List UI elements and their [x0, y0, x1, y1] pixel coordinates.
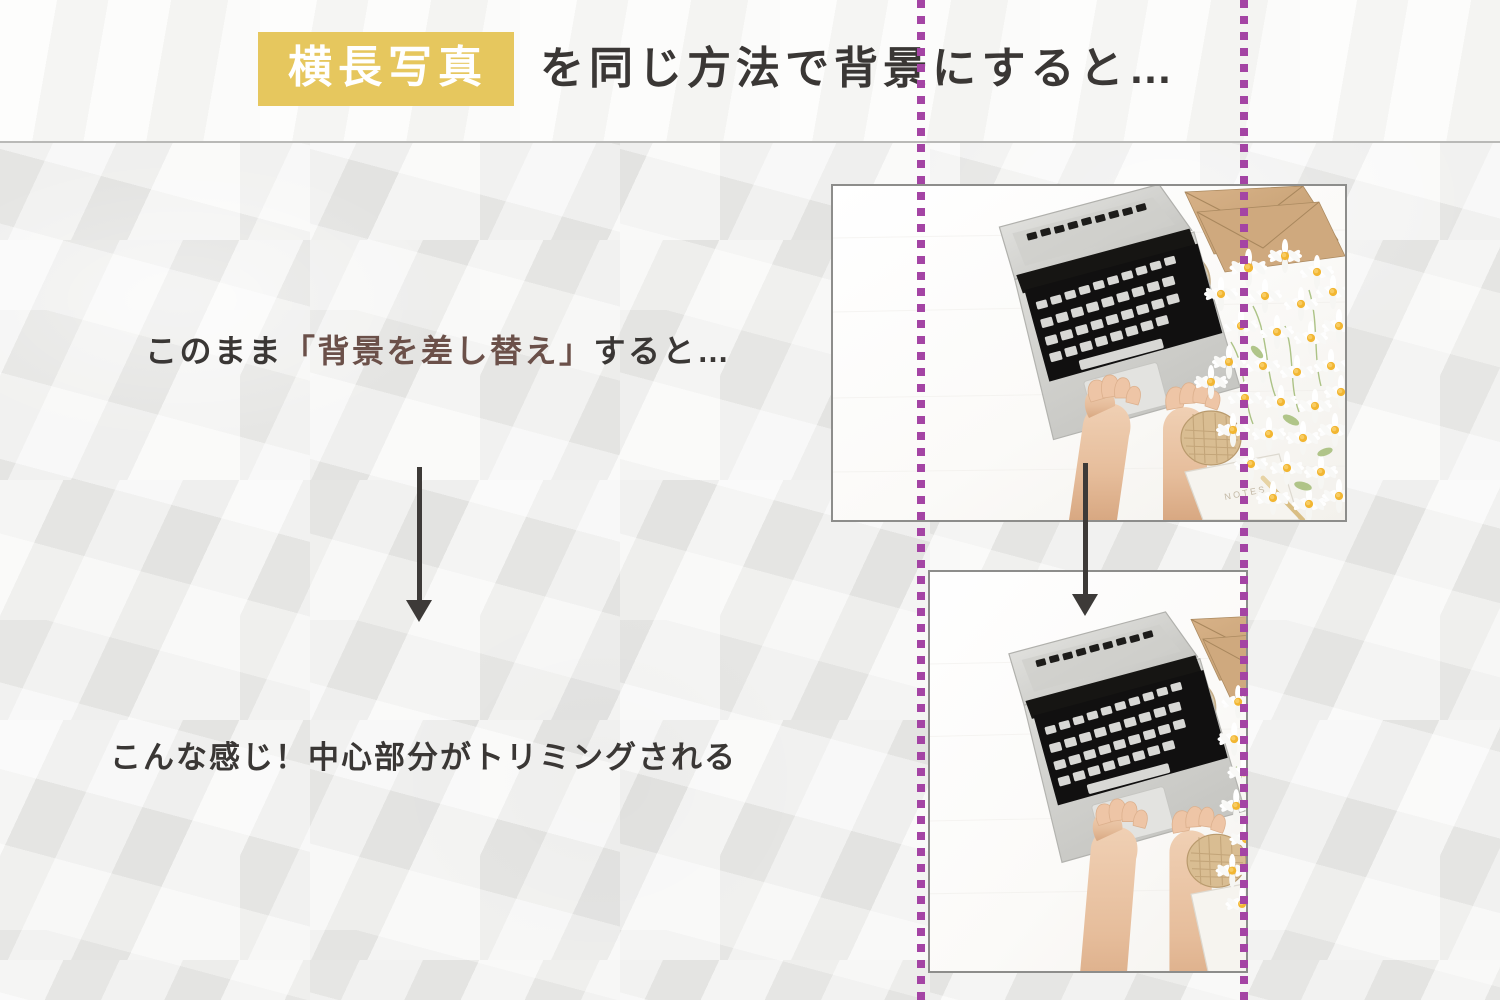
crop-guide-left — [917, 0, 925, 1000]
crop-guide-right — [1240, 0, 1248, 1000]
arrow-head — [406, 600, 432, 622]
caption-before: このまま「背景を差し替え」すると… — [145, 335, 732, 367]
arrow-shaft — [1083, 463, 1088, 594]
header-badge: 横長写真 — [258, 32, 514, 106]
crop-window — [930, 572, 1246, 971]
caption-before-suffix: すると… — [594, 333, 732, 369]
header-content: 横長写真 を同じ方法で背景にすると… — [258, 32, 1177, 106]
flatlay-illustration-crop — [930, 572, 1246, 971]
header-bar: 横長写真 を同じ方法で背景にすると… — [0, 0, 1500, 143]
photo-cropped-portrait — [928, 570, 1248, 973]
arrow-head — [1072, 594, 1098, 616]
caption-before-highlight: 「背景を差し替え」 — [283, 333, 594, 369]
header-title: を同じ方法で背景にすると… — [540, 47, 1177, 91]
slide-canvas: 横長写真 を同じ方法で背景にすると… このまま「背景を差し替え」すると… こんな… — [0, 0, 1500, 1000]
caption-after: こんな感じ！中心部分がトリミングされる — [110, 742, 737, 773]
arrow-shaft — [417, 467, 422, 600]
down-arrow-between-photos — [1070, 463, 1100, 618]
caption-before-prefix: このまま — [145, 333, 283, 369]
down-arrow-left — [404, 467, 434, 622]
